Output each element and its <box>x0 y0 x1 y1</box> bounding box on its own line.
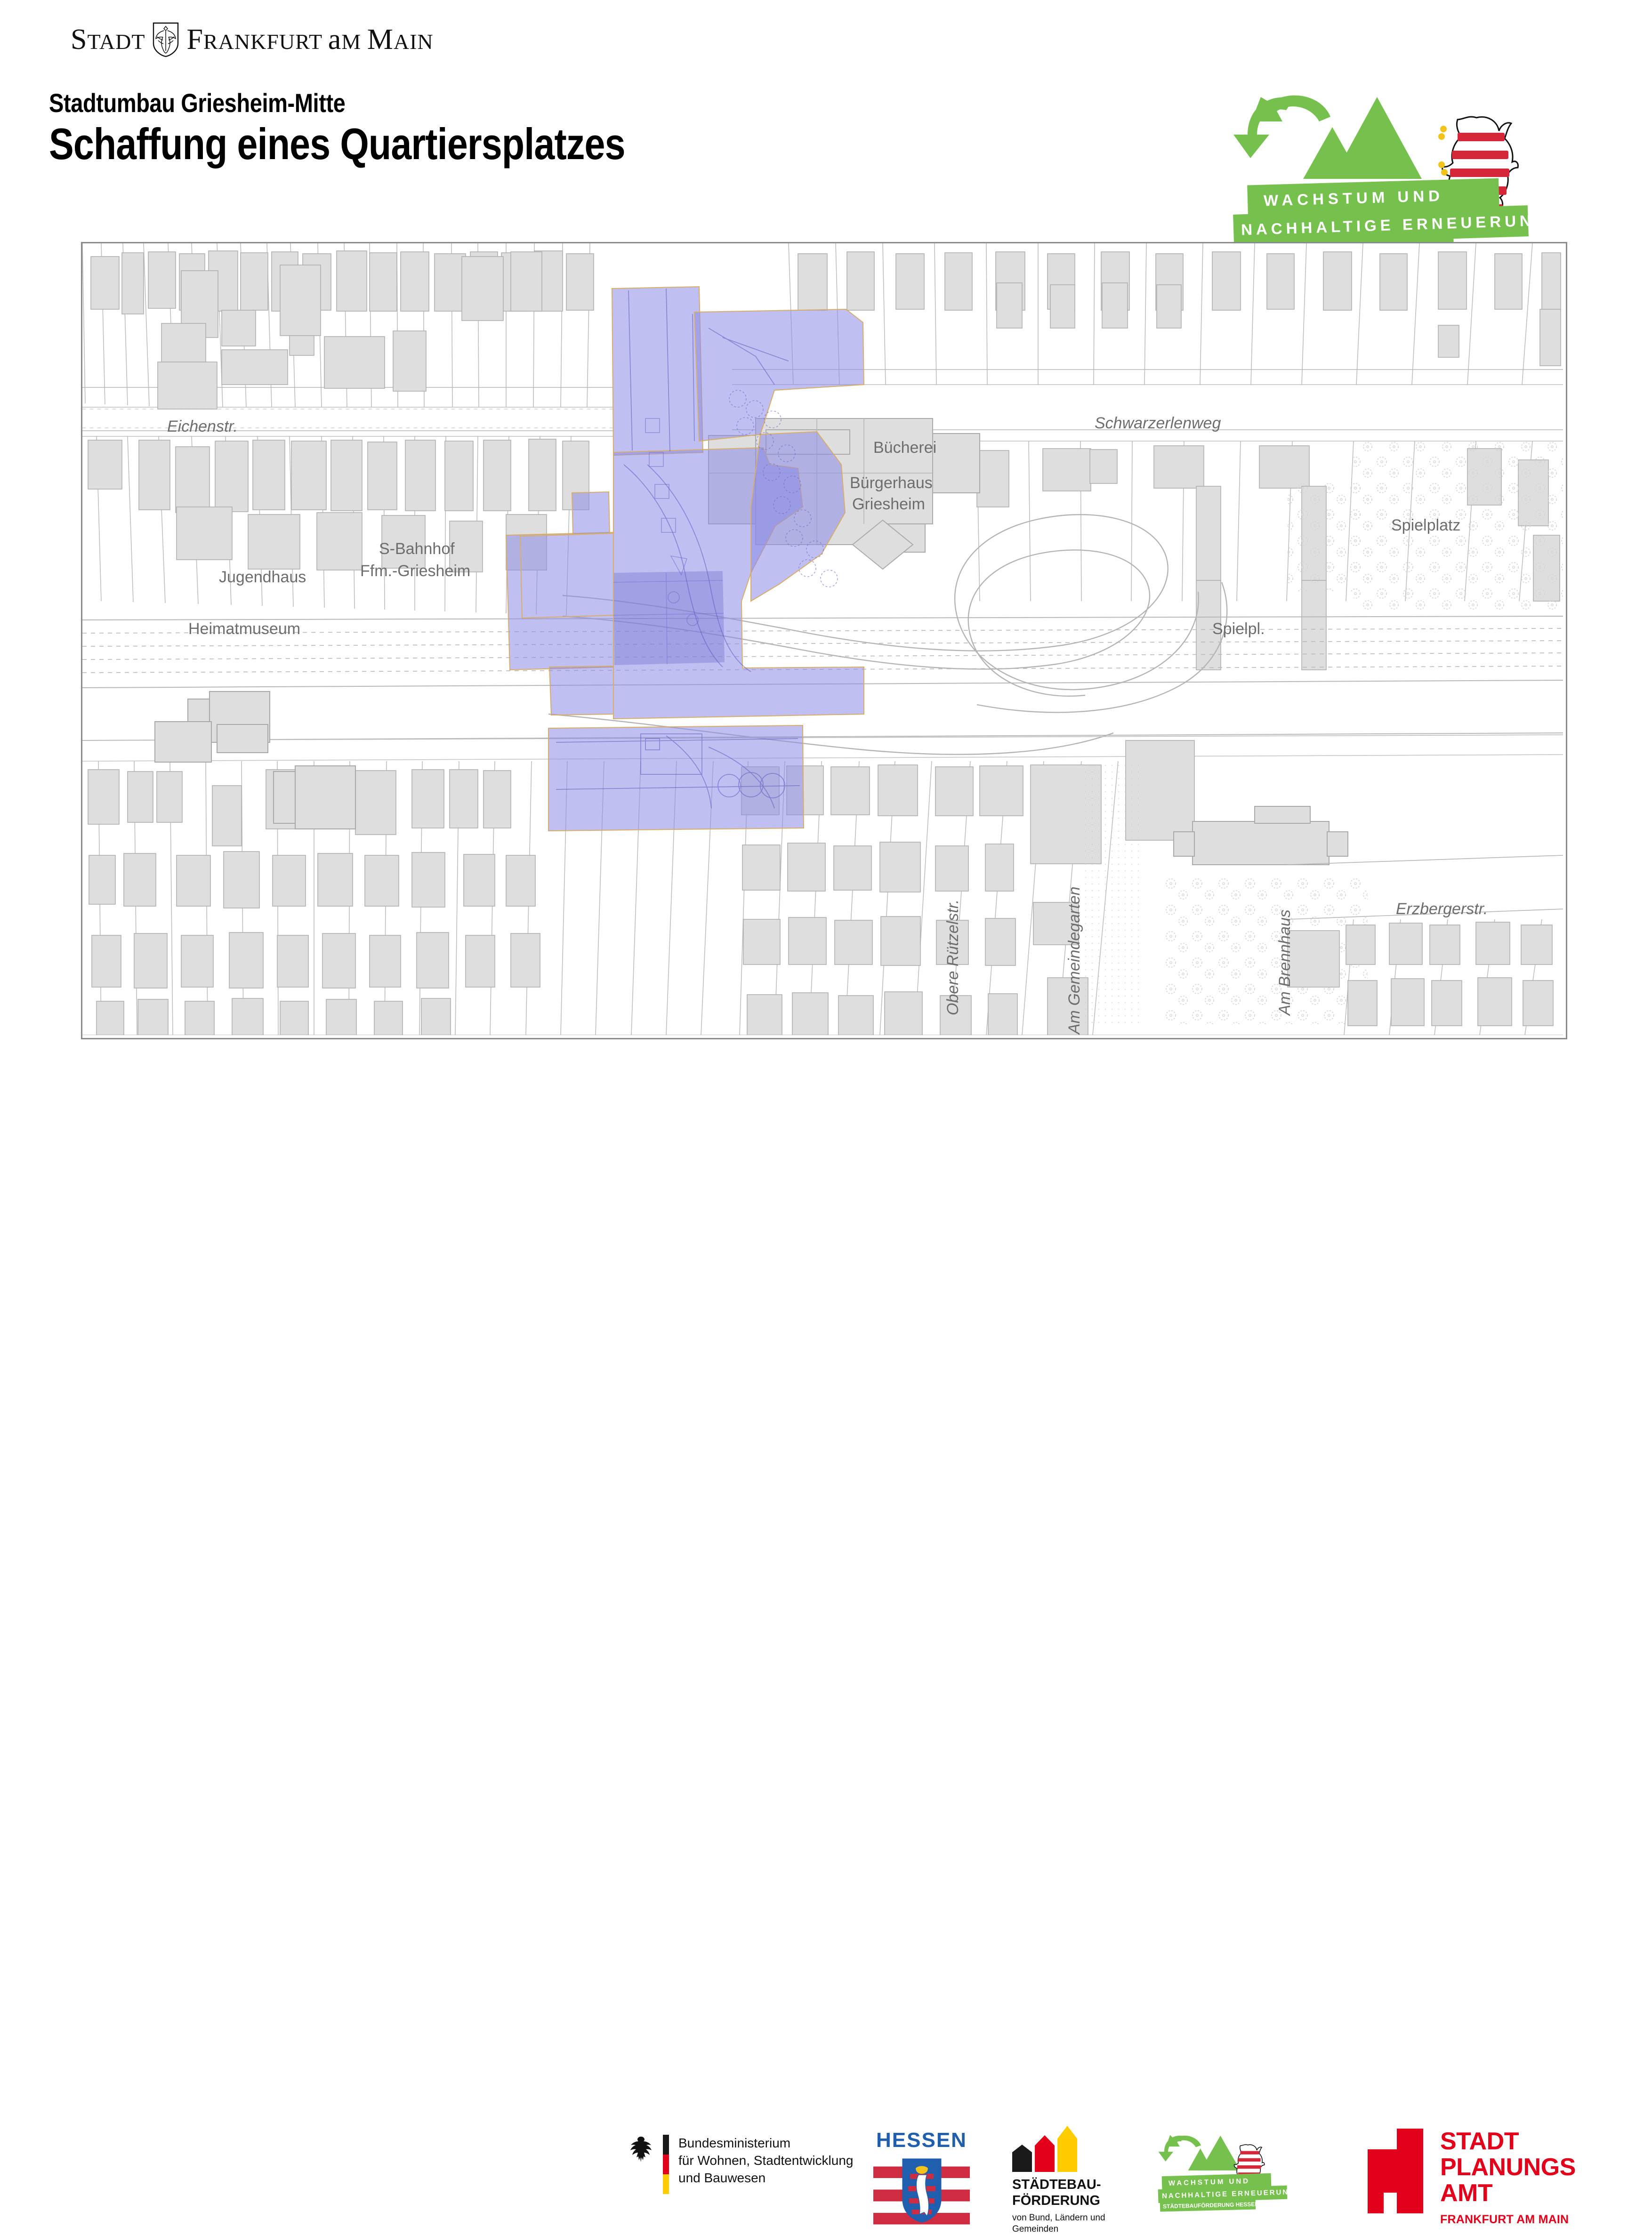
bmwsb-line-2: für Wohnen, Stadtentwicklung <box>678 2152 853 2170</box>
map-place-label: Heimatmuseum <box>188 620 300 638</box>
stadtplanungsamt-logo: STADT PLANUNGS AMT FRANKFURT AM MAIN <box>1368 2129 1576 2227</box>
project-subtitle: Stadtumbau Griesheim-Mitte <box>49 88 345 118</box>
wachstum-erneuerung-badge-small: WACHSTUM UND NACHHALTIGE ERNEUERUNG STÄD… <box>1158 2132 1295 2215</box>
spa-line-3: AMT <box>1440 2180 1576 2206</box>
map-street-label: Am Gemeindegarten <box>1065 886 1084 1034</box>
page-title: Schaffung eines Quartiersplatzes <box>49 119 625 169</box>
cadastral-map[interactable]: Eichenstr. Schwarzerlenweg Erzbergerstr.… <box>81 242 1567 1039</box>
spa-line-2: PLANUNGS <box>1440 2155 1576 2180</box>
hessen-wordmark: HESSEN <box>873 2129 970 2152</box>
spa-line-1: STADT <box>1440 2129 1576 2155</box>
bmwsb-line-3: und Bauwesen <box>678 2170 853 2187</box>
map-street-label: Schwarzerlenweg <box>1095 414 1221 433</box>
hessen-shield-icon <box>902 2158 942 2223</box>
footer-logo-row: Bundesministerium für Wohnen, Stadtentwi… <box>0 1059 1652 1167</box>
map-street-label: Am Brennhaus <box>1276 909 1294 1015</box>
map-place-label: Bücherei <box>873 439 936 457</box>
stbf-sub-2: Gemeinden <box>1012 2224 1135 2235</box>
map-place-label: Spielpl. <box>1212 620 1265 638</box>
crest-word-frankfurt: FRANKFURT aM MAIN <box>186 23 433 56</box>
map-canvas: Eichenstr. Schwarzerlenweg Erzbergerstr.… <box>82 243 1566 1038</box>
stbf-line-2: FÖRDERUNG <box>1012 2193 1135 2209</box>
map-place-label: Jugendhaus <box>219 568 306 587</box>
frankfurt-eagle-shield-icon <box>152 22 180 57</box>
hessen-state-logo: HESSEN <box>873 2129 970 2225</box>
bmwsb-text: Bundesministerium für Wohnen, Stadtentwi… <box>678 2135 853 2187</box>
map-street-label: Erzbergerstr. <box>1396 900 1488 918</box>
bmwsb-line-1: Bundesministerium <box>678 2135 853 2152</box>
hessen-flag-icon <box>873 2155 970 2225</box>
map-place-label: Griesheim <box>852 495 925 514</box>
map-vector-layer <box>82 243 1563 1035</box>
map-place-label: Spielplatz <box>1391 516 1460 535</box>
bmwsb-logo: Bundesministerium für Wohnen, Stadtentwi… <box>626 2135 853 2194</box>
city-crest-wordmark: STADT FRANKFURT aM MAIN <box>71 22 434 57</box>
three-houses-icon <box>1012 2129 1135 2172</box>
crest-word-stadt: STADT <box>71 23 145 56</box>
map-street-label: Obere Rützelstr. <box>944 900 962 1015</box>
map-place-label: Ffm.-Griesheim <box>360 562 470 580</box>
map-place-label: S-Bahnhof <box>379 540 455 558</box>
stbf-sub-1: von Bund, Ländern und <box>1012 2212 1135 2224</box>
stbf-line-1: STÄDTEBAU- <box>1012 2177 1135 2193</box>
map-place-label: Bürgerhaus <box>850 474 933 492</box>
federal-eagle-icon <box>626 2135 655 2169</box>
badge-small-line-3: STÄDTEBAUFÖRDERUNG HESSEN <box>1160 2199 1256 2212</box>
staedtebaufoerderung-logo: STÄDTEBAU- FÖRDERUNG von Bund, Ländern u… <box>1012 2129 1135 2235</box>
stadtplanungsamt-mark-icon <box>1368 2129 1423 2213</box>
map-street-label: Eichenstr. <box>167 418 238 436</box>
spa-sub: FRANKFURT AM MAIN <box>1440 2213 1576 2227</box>
german-flag-bar-icon <box>663 2135 669 2194</box>
